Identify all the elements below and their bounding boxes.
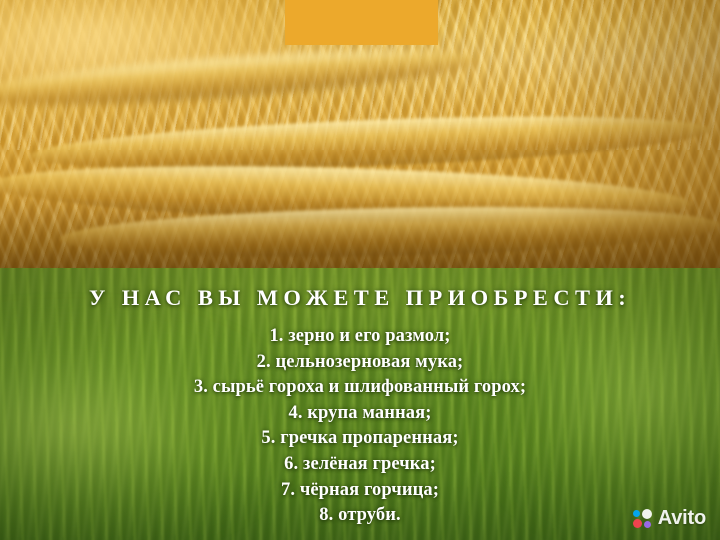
list-item: 4. крупа манная; xyxy=(0,401,720,427)
list-item: 3. сырьё гороха и шлифованный горох; xyxy=(0,375,720,401)
list-item: 2. цельнозерновая мука; xyxy=(0,350,720,376)
list-item: 6. зелёная гречка; xyxy=(0,452,720,478)
page-title: У НАС ВЫ МОЖЕТЕ ПРИОБРЕСТИ: xyxy=(0,285,720,311)
list-item: 7. чёрная горчица; xyxy=(0,478,720,504)
product-list: 1. зерно и его размол; 2. цельнозерновая… xyxy=(0,324,720,529)
list-item: 5. гречка пропаренная; xyxy=(0,426,720,452)
wheat-shadow-bottom xyxy=(0,198,720,268)
list-item: 1. зерно и его размол; xyxy=(0,324,720,350)
orange-label-patch xyxy=(285,0,438,45)
poster-image: У НАС ВЫ МОЖЕТЕ ПРИОБРЕСТИ: 1. зерно и е… xyxy=(0,0,720,540)
avito-watermark: Avito xyxy=(633,507,706,530)
list-item: 8. отруби. xyxy=(0,503,720,529)
avito-logo-icon xyxy=(633,509,652,528)
avito-watermark-label: Avito xyxy=(658,507,706,530)
